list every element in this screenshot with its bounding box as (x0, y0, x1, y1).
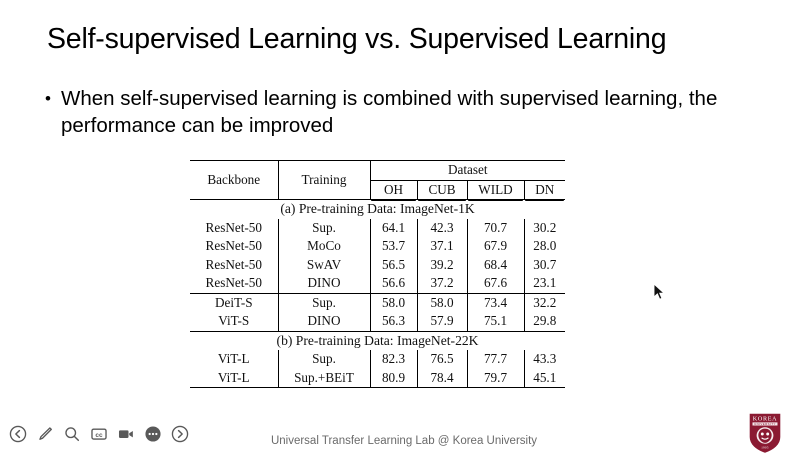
cell-oh: 64.1 (370, 219, 417, 238)
cell-backbone: ViT-S (190, 312, 278, 331)
cell-dn: 30.2 (524, 219, 565, 238)
cell-backbone: ResNet-50 (190, 237, 278, 256)
column-header-backbone: Backbone (190, 161, 278, 200)
cell-cub: 76.5 (417, 350, 467, 369)
page-title: Self-supervised Learning vs. Supervised … (47, 23, 666, 56)
bullet-list: • When self-supervised learning is combi… (45, 85, 725, 139)
cell-wild: 77.7 (467, 350, 524, 369)
cell-backbone: ResNet-50 (190, 274, 278, 293)
column-header-wild: WILD (467, 180, 524, 200)
cell-training: Sup.+BEiT (278, 369, 370, 388)
table-row: DeiT-SSup.58.058.073.432.2 (190, 293, 565, 312)
table-section-title: (a) Pre-training Data: ImageNet-1K (190, 200, 565, 219)
column-header-oh: OH (370, 180, 417, 200)
korea-university-crest: KOREA UNIVERSITY 1905 (745, 411, 785, 455)
list-item: • When self-supervised learning is combi… (45, 85, 725, 139)
table-header-row-top: Backbone Training Dataset (190, 161, 565, 181)
svg-text:1905: 1905 (761, 445, 769, 449)
table-row: ResNet-50DINO56.637.267.623.1 (190, 274, 565, 293)
cell-wild: 68.4 (467, 256, 524, 275)
table-row: ResNet-50MoCo53.737.167.928.0 (190, 237, 565, 256)
table-section-header: (b) Pre-training Data: ImageNet-22K (190, 331, 565, 350)
cell-dn: 29.8 (524, 312, 565, 331)
table-row: ResNet-50SwAV56.539.268.430.7 (190, 256, 565, 275)
cell-wild: 67.6 (467, 274, 524, 293)
cell-oh: 82.3 (370, 350, 417, 369)
cell-training: Sup. (278, 350, 370, 369)
cell-dn: 23.1 (524, 274, 565, 293)
player-bottom-bar: cc Universal Transfer Learning Lab (0, 413, 808, 457)
mouse-cursor (653, 283, 665, 301)
cell-oh: 56.3 (370, 312, 417, 331)
cell-cub: 57.9 (417, 312, 467, 331)
cell-wild: 70.7 (467, 219, 524, 238)
cell-wild: 67.9 (467, 237, 524, 256)
cell-cub: 42.3 (417, 219, 467, 238)
cell-training: Sup. (278, 293, 370, 312)
table-body: (a) Pre-training Data: ImageNet-1KResNet… (190, 200, 565, 388)
table-section-header: (a) Pre-training Data: ImageNet-1K (190, 200, 565, 219)
column-header-dataset-group: Dataset (370, 161, 565, 181)
column-header-dn: DN (524, 180, 565, 200)
cell-dn: 45.1 (524, 369, 565, 388)
cell-oh: 80.9 (370, 369, 417, 388)
table-section-title: (b) Pre-training Data: ImageNet-22K (190, 331, 565, 350)
cell-training: MoCo (278, 237, 370, 256)
cell-dn: 28.0 (524, 237, 565, 256)
table-row: ViT-LSup.82.376.577.743.3 (190, 350, 565, 369)
cell-training: SwAV (278, 256, 370, 275)
cell-wild: 79.7 (467, 369, 524, 388)
cell-cub: 37.2 (417, 274, 467, 293)
cell-oh: 58.0 (370, 293, 417, 312)
cell-wild: 75.1 (467, 312, 524, 331)
cell-backbone: ViT-L (190, 350, 278, 369)
bullet-marker-icon: • (45, 85, 61, 112)
cell-oh: 56.5 (370, 256, 417, 275)
cell-backbone: DeiT-S (190, 293, 278, 312)
footer-attribution: Universal Transfer Learning Lab @ Korea … (0, 413, 808, 447)
cell-dn: 43.3 (524, 350, 565, 369)
cell-oh: 56.6 (370, 274, 417, 293)
table-row: ViT-LSup.+BEiT80.978.479.745.1 (190, 369, 565, 388)
svg-text:UNIVERSITY: UNIVERSITY (754, 422, 776, 426)
slide-canvas: Self-supervised Learning vs. Supervised … (0, 0, 808, 413)
table-row: ViT-SDINO56.357.975.129.8 (190, 312, 565, 331)
results-table: Backbone Training Dataset OH CUB WILD DN… (190, 160, 565, 388)
cell-cub: 37.1 (417, 237, 467, 256)
cell-backbone: ResNet-50 (190, 256, 278, 275)
table-row: ResNet-50Sup.64.142.370.730.2 (190, 219, 565, 238)
cell-training: Sup. (278, 219, 370, 238)
cell-training: DINO (278, 312, 370, 331)
bullet-text: When self-supervised learning is combine… (61, 85, 725, 139)
column-header-training: Training (278, 161, 370, 200)
cell-training: DINO (278, 274, 370, 293)
cell-dn: 32.2 (524, 293, 565, 312)
column-header-cub: CUB (417, 180, 467, 200)
cell-oh: 53.7 (370, 237, 417, 256)
cell-dn: 30.7 (524, 256, 565, 275)
cell-wild: 73.4 (467, 293, 524, 312)
cell-cub: 39.2 (417, 256, 467, 275)
cell-backbone: ViT-L (190, 369, 278, 388)
cell-backbone: ResNet-50 (190, 219, 278, 238)
cell-cub: 78.4 (417, 369, 467, 388)
cell-cub: 58.0 (417, 293, 467, 312)
